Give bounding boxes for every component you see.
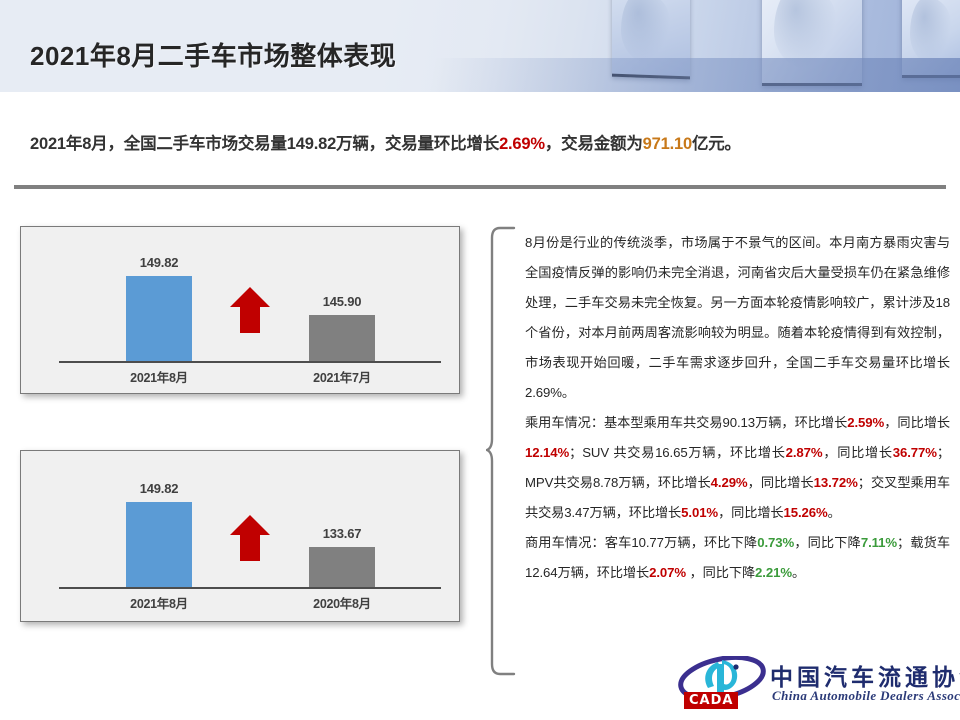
subtitle-part-2: ，交易金额为 (545, 135, 643, 153)
subtitle-highlight-mom: 2.69% (499, 135, 545, 153)
bar-2021-08 (126, 276, 192, 361)
world-map-icon (621, 0, 669, 64)
text-segment: ，同比增长 (884, 415, 950, 430)
text-segment: ；SUV 共交易16.65万辆，环比增长 (569, 445, 785, 460)
bar-2020-08 (309, 547, 375, 587)
header-divider (14, 185, 946, 189)
subtitle-part-3: 亿元。 (692, 135, 741, 153)
text-segment: ，同比增长 (823, 445, 893, 460)
bar-category-label: 2021年8月 (130, 593, 188, 612)
bar-2021-08 (126, 502, 192, 587)
cada-logo: CADA 中国汽车流通协会 China Automobile Dealers A… (678, 656, 950, 714)
commentary-panel: 8月份是行业的传统淡季，市场属于不景气的区间。本月南方暴雨灾害与全国疫情反弹的影… (525, 228, 950, 588)
text-segment: 0.73% (757, 535, 794, 550)
text-segment: ，同比增长 (748, 475, 814, 490)
text-segment: 15.26% (784, 505, 828, 520)
text-segment: 商用车情况：客车10.77万辆，环比下降 (525, 535, 757, 550)
chart-yoy-plot: 149.82 2021年8月 133.67 2020年8月 (21, 451, 459, 621)
text-segment: 2.07% (649, 565, 686, 580)
text-segment: 5.01% (681, 505, 718, 520)
logo-chinese-name: 中国汽车流通协会 (770, 658, 960, 692)
bar-value-label: 133.67 (323, 526, 362, 541)
text-segment: ，同比增长 (718, 505, 783, 520)
text-segment: ，同比下降 (686, 565, 755, 580)
bar-2021-07 (309, 315, 375, 361)
bar-group-current: 149.82 (126, 502, 192, 587)
text-segment: 2.59% (847, 415, 884, 430)
text-segment: ，同比下降 (794, 535, 861, 550)
text-segment: 12.14% (525, 445, 569, 460)
bar-value-label: 145.90 (323, 294, 362, 309)
logo-english-name: China Automobile Dealers Association (772, 688, 960, 704)
bar-category-label: 2021年8月 (130, 367, 188, 386)
chart-yoy-container: 149.82 2021年8月 133.67 2020年8月 (20, 450, 460, 622)
text-segment: 2.21% (755, 565, 792, 580)
commentary-paragraph-1: 8月份是行业的传统淡季，市场属于不景气的区间。本月南方暴雨灾害与全国疫情反弹的影… (525, 228, 950, 408)
trend-up-arrow-icon (228, 285, 272, 335)
bar-group-current: 149.82 (126, 276, 192, 361)
subtitle-part-1: 2021年8月，全国二手车市场交易量149.82万辆，交易量环比增长 (30, 135, 499, 153)
text-segment: 乘用车情况：基本型乘用车共交易90.13万辆，环比增长 (525, 415, 847, 430)
bar-group-compare: 133.67 (309, 547, 375, 587)
bar-group-compare: 145.90 (309, 315, 375, 361)
subtitle-highlight-amount: 971.10 (643, 135, 692, 153)
world-map-icon (910, 0, 951, 64)
text-segment: 。 (828, 505, 841, 520)
chart-axis-line (59, 587, 441, 589)
commentary-paragraph-2: 乘用车情况：基本型乘用车共交易90.13万辆，环比增长2.59%，同比增长12.… (525, 408, 950, 528)
chart-mom-container: 149.82 2021年8月 145.90 2021年7月 (20, 226, 460, 394)
bar-category-label: 2020年8月 (313, 593, 371, 612)
text-segment: 4.29% (711, 475, 748, 490)
chart-axis-line (59, 361, 441, 363)
text-segment: 36.77% (893, 445, 937, 460)
page-title: 2021年8月二手车市场整体表现 (30, 36, 396, 73)
commentary-paragraph-3: 商用车情况：客车10.77万辆，环比下降0.73%，同比下降7.11%；载货车1… (525, 528, 950, 588)
text-segment: 7.11% (861, 535, 897, 550)
bar-value-label: 149.82 (140, 481, 179, 496)
chart-mom-plot: 149.82 2021年8月 145.90 2021年7月 (21, 227, 459, 393)
bar-value-label: 149.82 (140, 255, 179, 270)
text-segment: 2.87% (786, 445, 823, 460)
curly-brace-connector (486, 226, 520, 676)
text-segment: 。 (792, 565, 805, 580)
bar-category-label: 2021年7月 (313, 367, 371, 386)
slide-root: 2021年8月二手车市场整体表现 2021年8月，全国二手车市场交易量149.8… (0, 0, 960, 720)
text-segment: 13.72% (814, 475, 858, 490)
cada-abbrev: CADA (684, 692, 738, 709)
trend-up-arrow-icon (228, 513, 272, 563)
subtitle-summary: 2021年8月，全国二手车市场交易量149.82万辆，交易量环比增长2.69%，… (30, 130, 741, 154)
